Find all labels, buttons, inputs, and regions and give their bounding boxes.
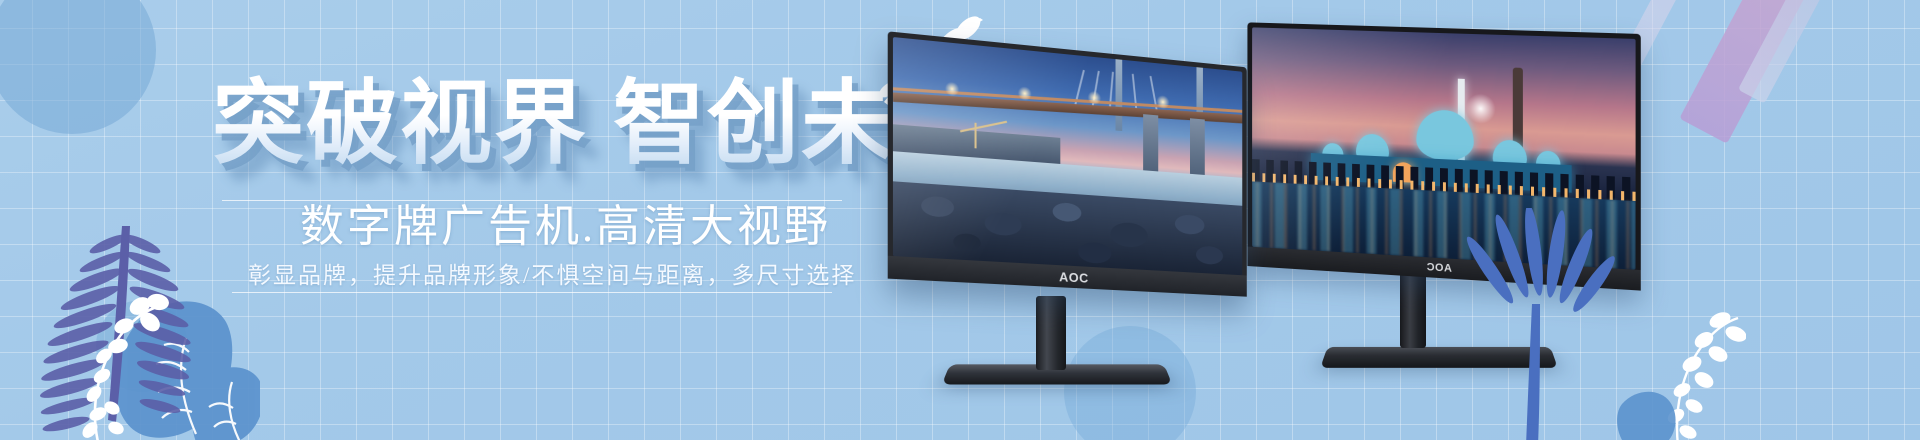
bridge-lamp <box>945 81 959 97</box>
crane-arm <box>960 121 1007 133</box>
headline-container: 突破视界 智创未来 <box>212 70 912 180</box>
bridge-lamp <box>1156 94 1169 109</box>
bridge-lamp <box>1018 86 1032 101</box>
front-monitor-stand-neck <box>1036 296 1066 370</box>
bridge-pylon-right <box>1115 59 1122 131</box>
bridge-cable <box>1149 76 1158 113</box>
bridge-pier <box>1190 118 1205 181</box>
tagline-text: 彰显品牌，提升品牌形象/不惧空间与距离，多尺寸选择 <box>248 256 856 290</box>
bridge-pier <box>1143 114 1158 178</box>
front-monitor-screen <box>893 37 1242 275</box>
product-banner: 突破视界 智创未来 数字牌广告机.高清大视野 彰显品牌，提升品牌形象/不惧空间与… <box>0 0 1920 440</box>
bridge-lamp <box>1088 90 1102 105</box>
rear-monitor-stand-neck <box>1400 270 1426 348</box>
divider-bottom <box>232 292 832 293</box>
foliage-decoration-left <box>0 170 260 440</box>
front-monitor: AOC <box>890 50 1330 390</box>
light-flare <box>1466 93 1496 124</box>
headline-text: 突破视界 智创未来 <box>212 70 912 178</box>
subtitle-text: 数字牌广告机.高清大视野 <box>300 190 831 254</box>
foliage-decoration-right <box>1446 208 1746 440</box>
aoc-logo-front: AOC <box>1059 269 1089 286</box>
front-monitor-panel: AOC <box>888 31 1247 296</box>
